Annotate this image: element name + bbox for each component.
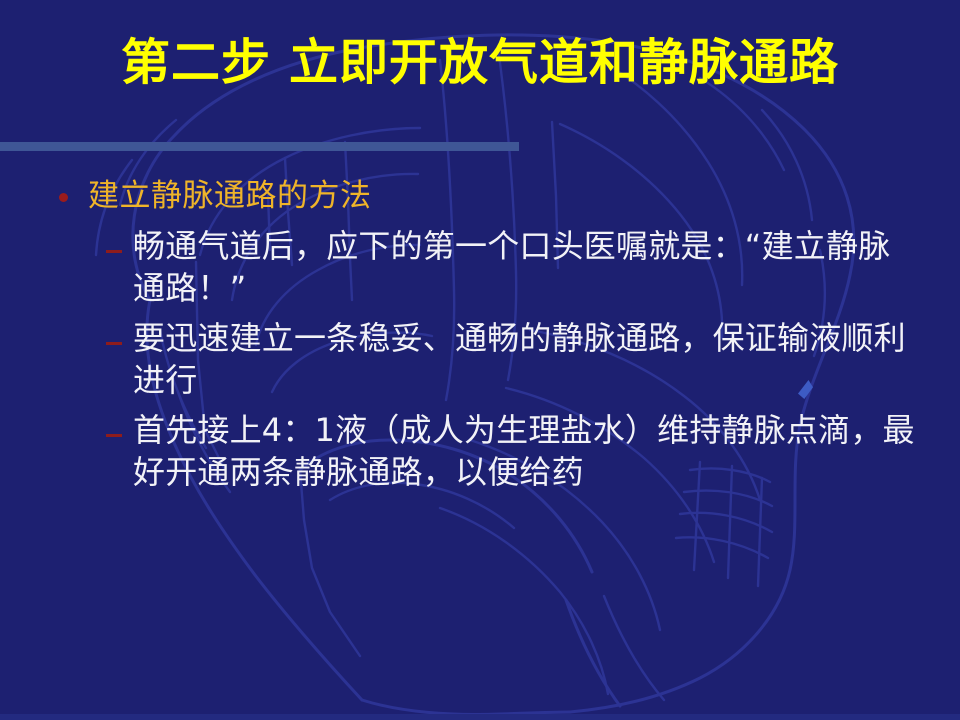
bullet-level1-label: 建立静脉通路的方法 [88, 178, 372, 214]
bottom-edge-strip [0, 714, 960, 720]
dash-bullet-icon [106, 342, 122, 345]
sub-bullet-label-3: 首先接上4：1液（成人为生理盐水）维持静脉点滴，最好开通两条静脉通路，以便给药 [133, 411, 915, 491]
list-item: 首先接上4：1液（成人为生理盐水）维持静脉点滴，最好开通两条静脉通路，以便给药 [0, 410, 960, 493]
sub-bullet-label-2: 要迅速建立一条稳妥、通畅的静脉通路，保证输液顺利进行 [133, 319, 906, 399]
title-divider-rule [0, 142, 519, 151]
title-area: 第二步 立即开放气道和静脉通路 [0, 36, 960, 91]
dash-bullet-icon [106, 434, 122, 437]
sub-bullet-label-1: 畅通气道后，应下的第一个口头医嘱就是：“建立静脉通路！” [133, 227, 890, 307]
dash-bullet-icon [106, 250, 122, 253]
round-dot-bullet-icon [59, 193, 68, 202]
page-title: 第二步 立即开放气道和静脉通路 [0, 36, 960, 91]
bullet-level1: 建立静脉通路的方法 [0, 176, 960, 217]
slide-content: 建立静脉通路的方法 畅通气道后，应下的第一个口头医嘱就是：“建立静脉通路！” 要… [0, 176, 960, 493]
list-item: 要迅速建立一条稳妥、通畅的静脉通路，保证输液顺利进行 [0, 318, 960, 401]
sub-bullet-list: 畅通气道后，应下的第一个口头医嘱就是：“建立静脉通路！” 要迅速建立一条稳妥、通… [0, 226, 960, 494]
list-item: 畅通气道后，应下的第一个口头医嘱就是：“建立静脉通路！” [0, 226, 960, 309]
presentation-slide: 第二步 立即开放气道和静脉通路 建立静脉通路的方法 畅通气道后，应下的第一个口头… [0, 0, 960, 720]
